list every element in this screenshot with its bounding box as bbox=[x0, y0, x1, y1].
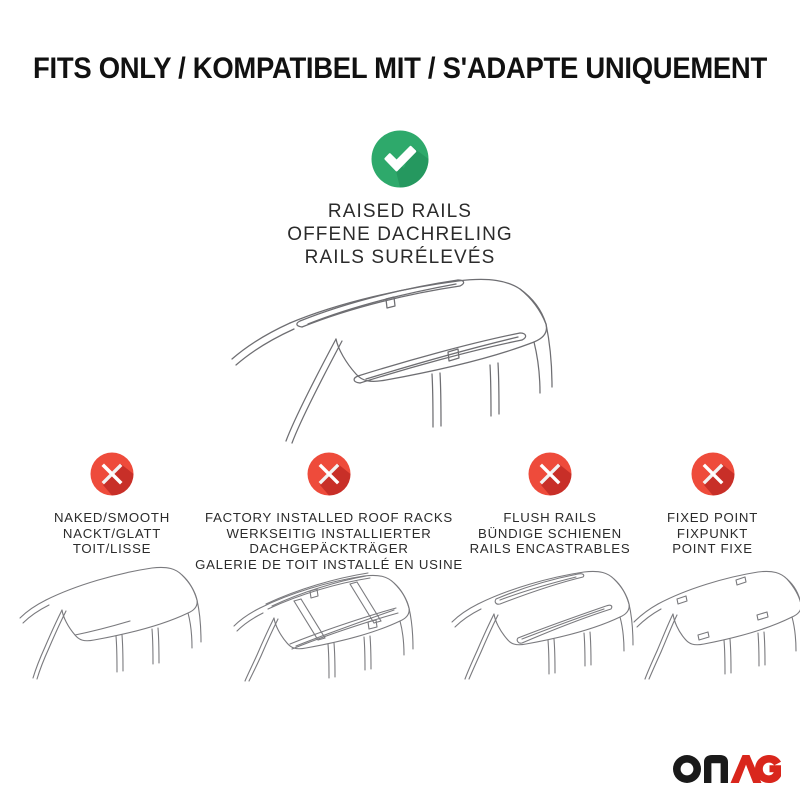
x-icon-wrap-1 bbox=[0, 452, 224, 501]
incompatible-item-fixed-point: FIXED POINT FIXPUNKT POINT FIXE bbox=[625, 452, 800, 557]
car-roof-fixed-point-illustration bbox=[622, 558, 800, 680]
compatible-labels: RAISED RAILS OFFENE DACHRELING RAILS SUR… bbox=[0, 200, 800, 269]
incompatible-4-label-de: FIXPUNKT bbox=[625, 526, 800, 542]
incompatible-labels-1: NAKED/SMOOTH NACKT/GLATT TOIT/LISSE bbox=[0, 510, 224, 557]
x-circle-icon bbox=[307, 452, 351, 496]
compatible-label-de: OFFENE DACHRELING bbox=[0, 223, 800, 246]
incompatible-2-label-de: WERKSEITIG INSTALLIERTER bbox=[195, 526, 463, 542]
incompatible-1-label-de: NACKT/GLATT bbox=[0, 526, 224, 542]
incompatible-4-label-en: FIXED POINT bbox=[625, 510, 800, 526]
check-circle-icon bbox=[371, 130, 429, 188]
incompatible-2-label-en: FACTORY INSTALLED ROOF RACKS bbox=[195, 510, 463, 526]
logo-letter-c bbox=[755, 755, 781, 783]
incompatible-2-label-de2: DACHGEPÄCKTRÄGER bbox=[195, 541, 463, 557]
x-circle-icon bbox=[90, 452, 134, 496]
compatible-label-fr: RAILS SURÉLEVÉS bbox=[0, 246, 800, 269]
incompatible-1-label-fr: TOIT/LISSE bbox=[0, 541, 224, 557]
logo-letter-o bbox=[673, 755, 701, 783]
x-icon-wrap-4 bbox=[625, 452, 800, 501]
x-circle-icon bbox=[691, 452, 735, 496]
page-title: FITS ONLY / KOMPATIBEL MIT / S'ADAPTE UN… bbox=[28, 52, 772, 86]
car-roof-factory-racks-illustration bbox=[218, 560, 430, 682]
car-roof-naked-smooth-illustration bbox=[6, 556, 206, 681]
logo-letter-m bbox=[704, 755, 728, 783]
car-roof-raised-rails-illustration bbox=[190, 275, 620, 450]
x-icon-wrap-2 bbox=[195, 452, 463, 501]
brand-logo-omac bbox=[672, 752, 782, 786]
brand-name-text: OMAC bbox=[0, 0, 1, 1]
car-roof-flush-rails-illustration bbox=[438, 558, 638, 680]
incompatible-item-factory-racks: FACTORY INSTALLED ROOF RACKS WERKSEITIG … bbox=[195, 452, 463, 572]
incompatible-4-label-fr: POINT FIXE bbox=[625, 541, 800, 557]
incompatible-item-naked-smooth: NAKED/SMOOTH NACKT/GLATT TOIT/LISSE bbox=[0, 452, 224, 557]
incompatible-1-label-en: NAKED/SMOOTH bbox=[0, 510, 224, 526]
x-circle-icon bbox=[528, 452, 572, 496]
compatible-label-en: RAISED RAILS bbox=[0, 200, 800, 223]
incompatible-labels-4: FIXED POINT FIXPUNKT POINT FIXE bbox=[625, 510, 800, 557]
compatible-section: RAISED RAILS OFFENE DACHRELING RAILS SUR… bbox=[0, 130, 800, 269]
